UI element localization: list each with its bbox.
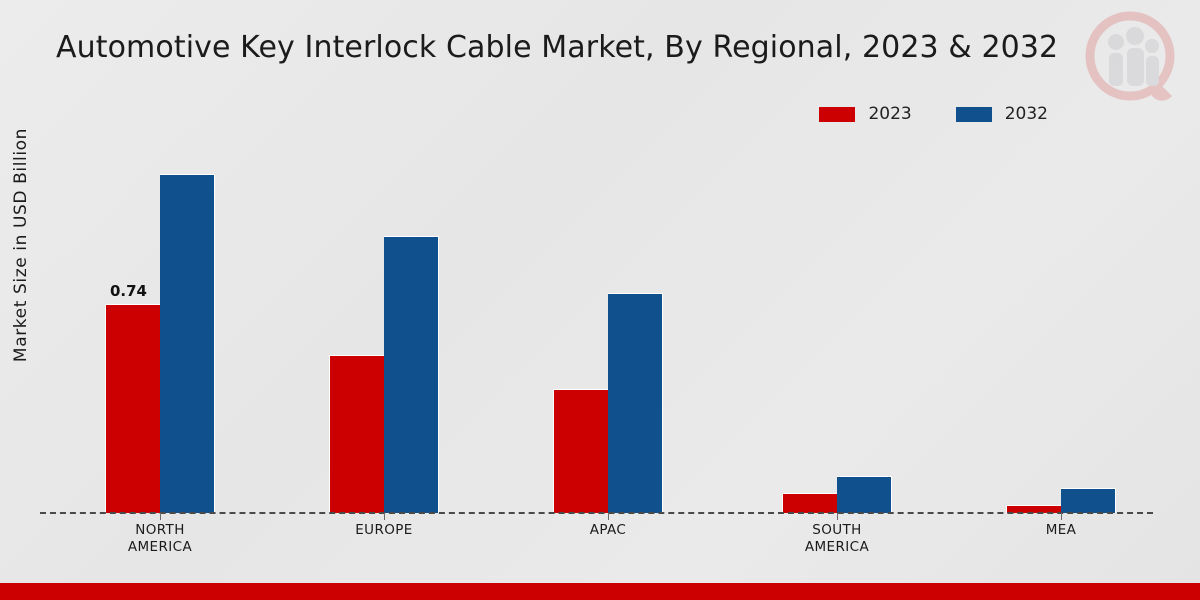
legend-item-2023[interactable]: 2023 [819,104,911,124]
bar-group [553,140,663,513]
bar-2032-2[interactable] [384,236,439,513]
bar-value-label: 0.74 [101,282,156,300]
x-axis-category-label: MEA [981,522,1141,539]
x-axis-category-label: SOUTH AMERICA [757,522,917,556]
bar-2032-5[interactable] [1061,488,1116,513]
bar-group [1006,140,1116,513]
x-axis-tick [384,513,385,520]
bar-2023-1[interactable] [105,304,160,513]
x-axis-category-label: NORTH AMERICA [80,522,240,556]
plot-area: 0.74 [40,140,1150,513]
chart-page: Automotive Key Interlock Cable Market, B… [0,0,1200,600]
legend-label-2032: 2032 [1005,104,1048,124]
bar-group [329,140,439,513]
legend-swatch-2032 [956,107,992,122]
bar-2032-4[interactable] [837,476,892,513]
bar-2032-1[interactable] [160,174,215,513]
chart-legend: 2023 2032 [819,104,1048,124]
legend-label-2023: 2023 [868,104,911,124]
x-axis-baseline [40,512,1153,514]
x-axis-tick [160,513,161,520]
bar-group: 0.74 [105,140,215,513]
legend-item-2032[interactable]: 2032 [956,104,1048,124]
x-axis-tick [1061,513,1062,520]
bar-2032-3[interactable] [608,293,663,513]
bar-group [782,140,892,513]
bar-2023-3[interactable] [553,389,608,513]
watermark-logo-icon [1078,6,1182,110]
y-axis-title: Market Size in USD Billion [4,0,38,545]
x-axis-tick [837,513,838,520]
footer-accent-bar [0,583,1200,600]
x-axis-tick [608,513,609,520]
x-axis-category-label: EUROPE [304,522,464,539]
legend-swatch-2023 [819,107,855,122]
x-axis-category-label: APAC [528,522,688,539]
bar-2023-4[interactable] [782,493,837,513]
chart-title: Automotive Key Interlock Cable Market, B… [56,30,1058,65]
bar-2023-2[interactable] [329,355,384,513]
